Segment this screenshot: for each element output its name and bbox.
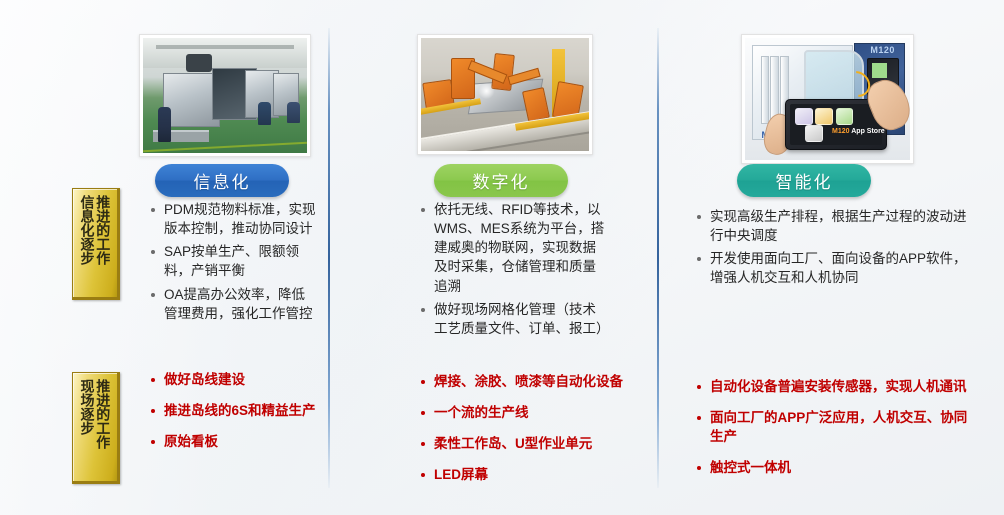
photo-frame	[143, 38, 307, 153]
list-item: 触控式一体机	[694, 458, 979, 477]
weld-spark	[478, 83, 495, 99]
list-item: 自动化设备普遍安装传感器，实现人机通讯	[694, 377, 979, 396]
bullets-intelligentization-bottom: 自动化设备普遍安装传感器，实现人机通讯 面向工厂的APP广泛应用，人机交互、协同…	[694, 377, 979, 490]
list-item: LED屏幕	[418, 465, 653, 484]
slide-canvas: 推进的工作 信息化逐步 推进的工作 现场逐步	[0, 0, 1004, 515]
list-item: 推进岛线的6S和精益生产	[148, 401, 328, 420]
rail-label-text-right: 推进的工作	[96, 195, 111, 265]
app-icon	[805, 125, 823, 142]
shop-fixture	[186, 54, 212, 72]
bullets-digitalization-bottom: 焊接、涂胶、喷漆等自动化设备 一个流的生产线 柔性工作岛、U型作业单元 LED屏…	[418, 372, 653, 497]
pill-intelligentization[interactable]: 智能化	[737, 164, 871, 197]
worker-figure	[158, 107, 171, 142]
photo-frame: M120 M120 M120 App Store	[745, 38, 910, 160]
rail-label-text-right: 推进的工作	[96, 379, 111, 449]
list-item: 面向工厂的APP广泛应用，人机交互、协同生产	[694, 408, 979, 446]
machine-model-label-side: M120	[870, 45, 895, 55]
photo-robotic-welding-line	[417, 34, 593, 155]
app-store-text: App Store	[851, 128, 884, 135]
list-item: 开发使用面向工厂、面向设备的APP软件，增强人机交互和人机协同	[694, 249, 974, 287]
column-divider-1	[328, 28, 330, 488]
rail-label-onsite: 推进的工作 现场逐步	[72, 372, 120, 484]
worker-figure	[258, 102, 271, 125]
tablet-screen: M120 App Store	[790, 104, 882, 145]
pill-digitalization[interactable]: 数字化	[434, 164, 568, 197]
rail-label-text-left: 现场逐步	[80, 379, 95, 435]
list-item: SAP按单生产、限额领料，产销平衡	[148, 242, 318, 280]
list-item: PDM规范物料标准，实现版本控制，推动协同设计	[148, 200, 318, 238]
pill-label: 数字化	[473, 168, 530, 193]
list-item: 柔性工作岛、U型作业单元	[418, 434, 653, 453]
machine-column	[761, 56, 770, 125]
rail-label-text-left: 信息化逐步	[80, 195, 95, 265]
rail-label-informatization: 推进的工作 信息化逐步	[72, 188, 120, 300]
list-item: 实现高级生产排程，根据生产过程的波动进行中央调度	[694, 207, 974, 245]
list-item: 一个流的生产线	[418, 403, 653, 422]
app-store-brand: M120	[832, 128, 850, 135]
pill-label: 信息化	[194, 168, 251, 193]
pill-label: 智能化	[776, 168, 833, 193]
app-icon	[795, 108, 813, 125]
list-item: 做好现场网格化管理（技术工艺质量文件、订单、报工）	[418, 300, 608, 338]
list-item: 焊接、涂胶、喷漆等自动化设备	[418, 372, 653, 391]
photo-smart-machine-tablet: M120 M120 M120 App Store	[741, 34, 914, 164]
bullets-informatization-top: PDM规范物料标准，实现版本控制，推动协同设计 SAP按单生产、限额领料，产销平…	[148, 200, 318, 327]
app-icon	[836, 108, 854, 125]
column-divider-2	[657, 28, 659, 488]
app-store-label: M120 App Store	[832, 128, 885, 135]
bullets-digitalization-top: 依托无线、RFID等技术，以WMS、MES系统为平台，搭建威奥的物联网，实现数据…	[418, 200, 608, 342]
shop-roof	[143, 38, 307, 68]
app-icon	[815, 108, 833, 125]
worker-figure	[287, 102, 300, 123]
bullets-informatization-bottom: 做好岛线建设 推进岛线的6S和精益生产 原始看板	[148, 370, 328, 463]
list-item: 依托无线、RFID等技术，以WMS、MES系统为平台，搭建威奥的物联网，实现数据…	[418, 200, 608, 296]
list-item: OA提高办公效率，降低管理费用，强化工作管控	[148, 285, 318, 323]
bullets-intelligentization-top: 实现高级生产排程，根据生产过程的波动进行中央调度 开发使用面向工厂、面向设备的A…	[694, 207, 974, 292]
list-item: 原始看板	[148, 432, 328, 451]
pill-informatization[interactable]: 信息化	[155, 164, 289, 197]
photo-frame	[421, 38, 589, 151]
list-item: 做好岛线建设	[148, 370, 328, 389]
photo-factory-cnc-machine-shop	[139, 34, 311, 157]
